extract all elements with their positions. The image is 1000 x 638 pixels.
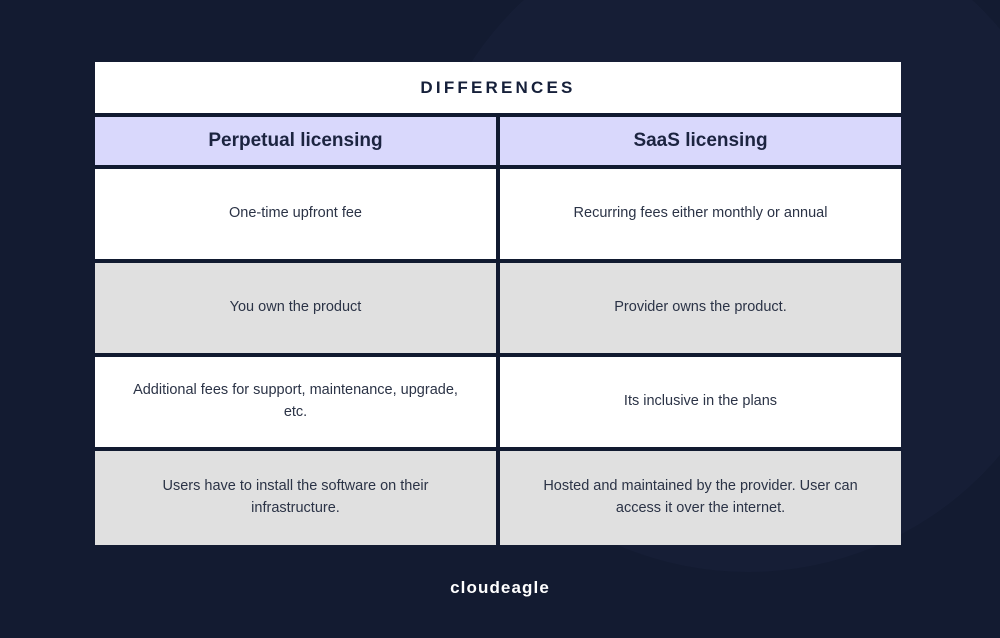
cell-text: Hosted and maintained by the provider. U… [526,476,875,520]
page-title: DIFFERENCES [420,78,575,98]
brand-logo: cloudeagle [0,578,1000,598]
table-cell-saas: Its inclusive in the plans [500,357,901,447]
column-header-label: Perpetual licensing [208,130,382,152]
column-header-label: SaaS licensing [633,130,767,152]
table-cell-perpetual: One-time upfront fee [95,169,500,259]
table-cell-saas: Hosted and maintained by the provider. U… [500,451,901,545]
table-title-row: DIFFERENCES [95,62,901,117]
cell-text: Recurring fees either monthly or annual [574,203,828,225]
cell-text: Provider owns the product. [614,297,786,319]
table-row: Additional fees for support, maintenance… [95,357,901,451]
cell-text: Additional fees for support, maintenance… [121,380,470,424]
column-header-perpetual-licensing: Perpetual licensing [95,117,500,165]
table-header-row: Perpetual licensing SaaS licensing [95,117,901,169]
brand-name: cloudeagle [450,578,550,597]
table-cell-perpetual: You own the product [95,263,500,353]
table-row: You own the product Provider owns the pr… [95,263,901,357]
cell-text: Users have to install the software on th… [121,476,470,520]
cell-text: One-time upfront fee [229,203,362,225]
column-header-saas-licensing: SaaS licensing [500,117,901,165]
table-cell-perpetual: Users have to install the software on th… [95,451,500,545]
table-cell-saas: Recurring fees either monthly or annual [500,169,901,259]
table-cell-saas: Provider owns the product. [500,263,901,353]
comparison-table: DIFFERENCES Perpetual licensing SaaS lic… [95,62,901,545]
cell-text: Its inclusive in the plans [624,391,777,413]
table-cell-perpetual: Additional fees for support, maintenance… [95,357,500,447]
table-row: One-time upfront fee Recurring fees eith… [95,169,901,263]
table-row: Users have to install the software on th… [95,451,901,545]
cell-text: You own the product [230,297,362,319]
